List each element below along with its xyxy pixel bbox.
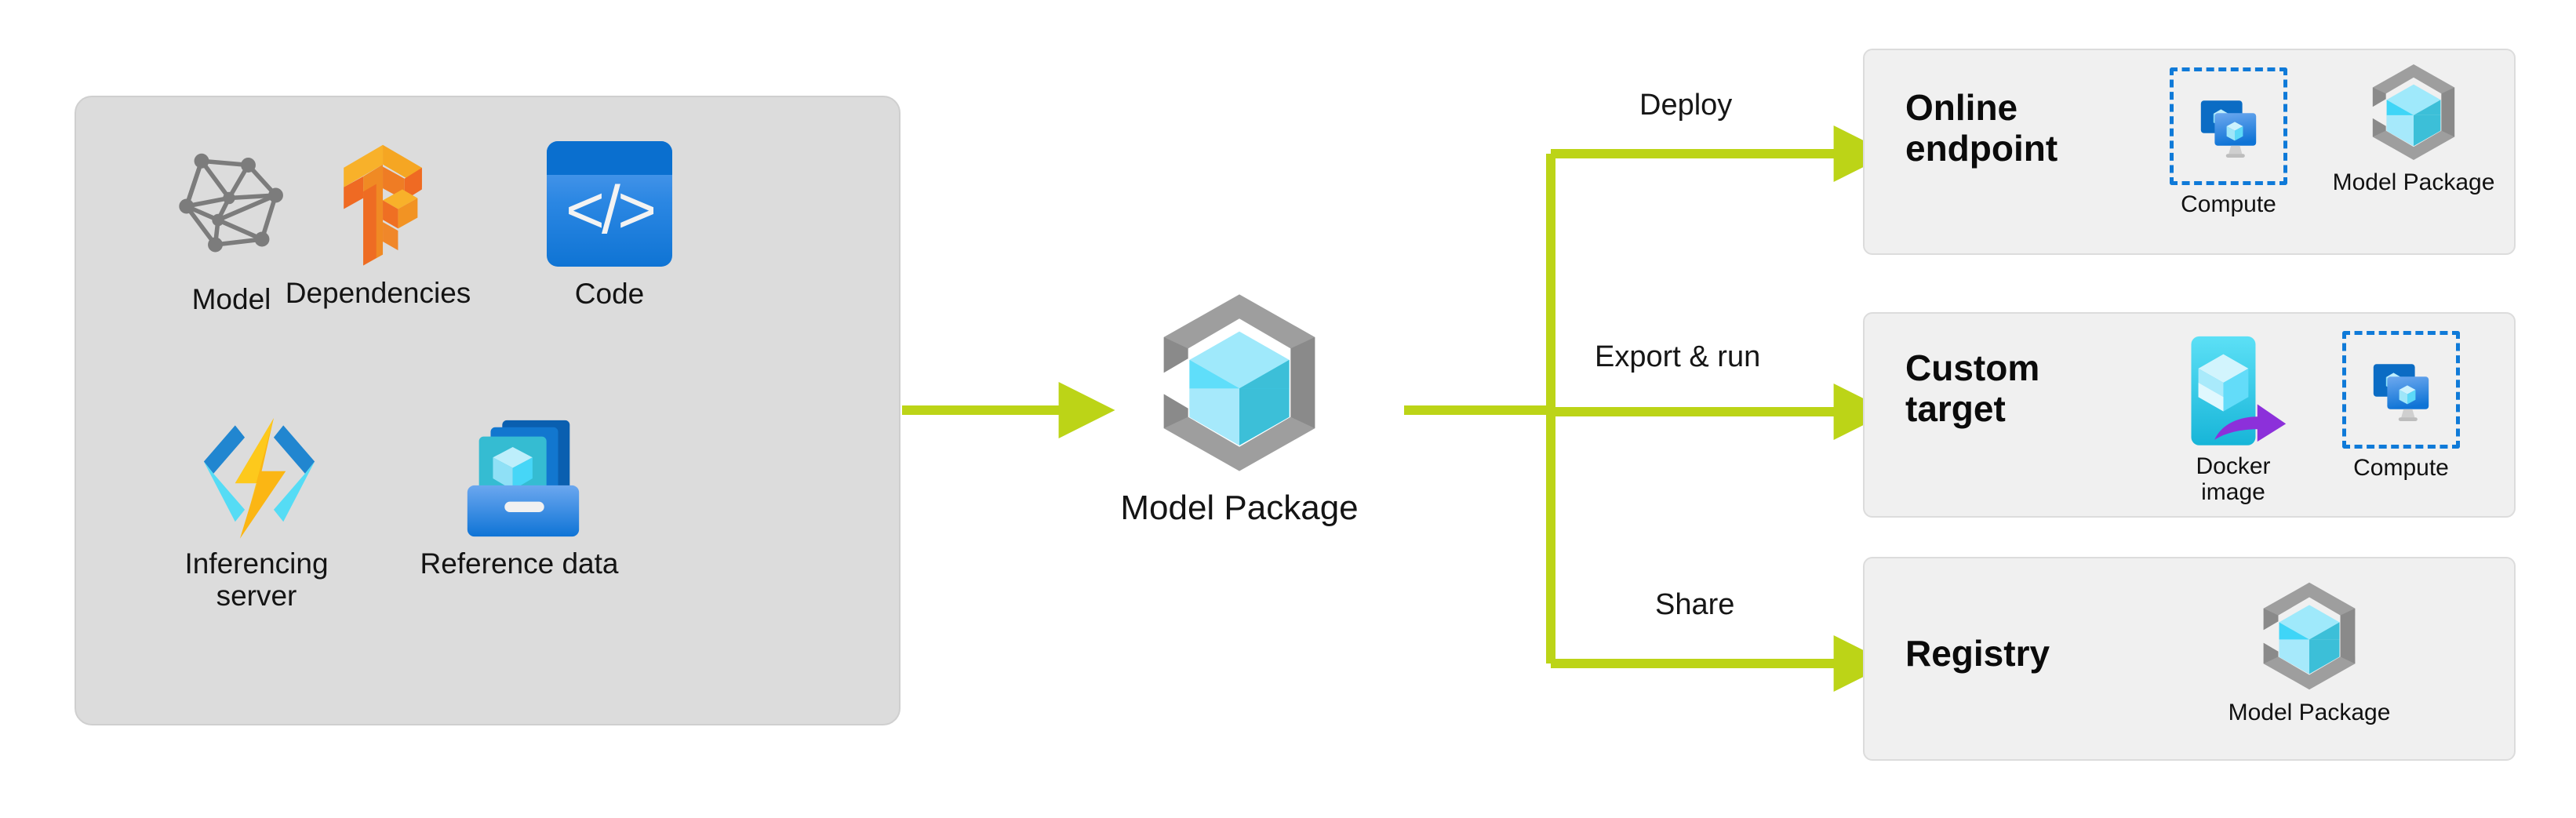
target-card-registry[interactable]: Registry Model Package xyxy=(1863,557,2516,761)
card-item-compute: Compute xyxy=(2153,67,2304,217)
compute-icon xyxy=(2363,349,2439,431)
model-package-icon xyxy=(2258,579,2361,693)
flow-label-deploy: Deploy xyxy=(1639,89,1732,122)
card-item-label: Model Package xyxy=(2333,169,2495,195)
model-package-icon xyxy=(2367,61,2460,163)
card-item-docker-image: Docker image xyxy=(2170,331,2296,505)
card-title: Registry xyxy=(1905,634,2050,674)
diagram-canvas: Model xyxy=(0,0,2576,818)
card-item-model-package: Model Package xyxy=(2219,579,2400,725)
card-title: Custom target xyxy=(1905,348,2039,429)
compute-dashed-boundary xyxy=(2342,331,2460,449)
card-item-label: Compute xyxy=(2353,455,2449,481)
card-title: Online endpoint xyxy=(1905,88,2058,169)
docker-image-icon xyxy=(2175,331,2291,447)
card-item-label: Compute xyxy=(2181,191,2276,217)
card-item-model-package: Model Package xyxy=(2327,61,2500,195)
target-card-online-endpoint[interactable]: Online endpoint Comput xyxy=(1863,49,2516,255)
flow-label-share: Share xyxy=(1655,588,1734,622)
compute-icon xyxy=(2191,85,2266,167)
target-card-custom-target[interactable]: Custom target Docker image xyxy=(1863,312,2516,518)
flow-label-export-run: Export & run xyxy=(1595,340,1760,374)
compute-dashed-boundary xyxy=(2170,67,2287,185)
card-item-compute: Compute xyxy=(2326,331,2476,481)
card-item-label: Model Package xyxy=(2229,700,2391,725)
card-item-label: Docker image xyxy=(2196,453,2270,505)
